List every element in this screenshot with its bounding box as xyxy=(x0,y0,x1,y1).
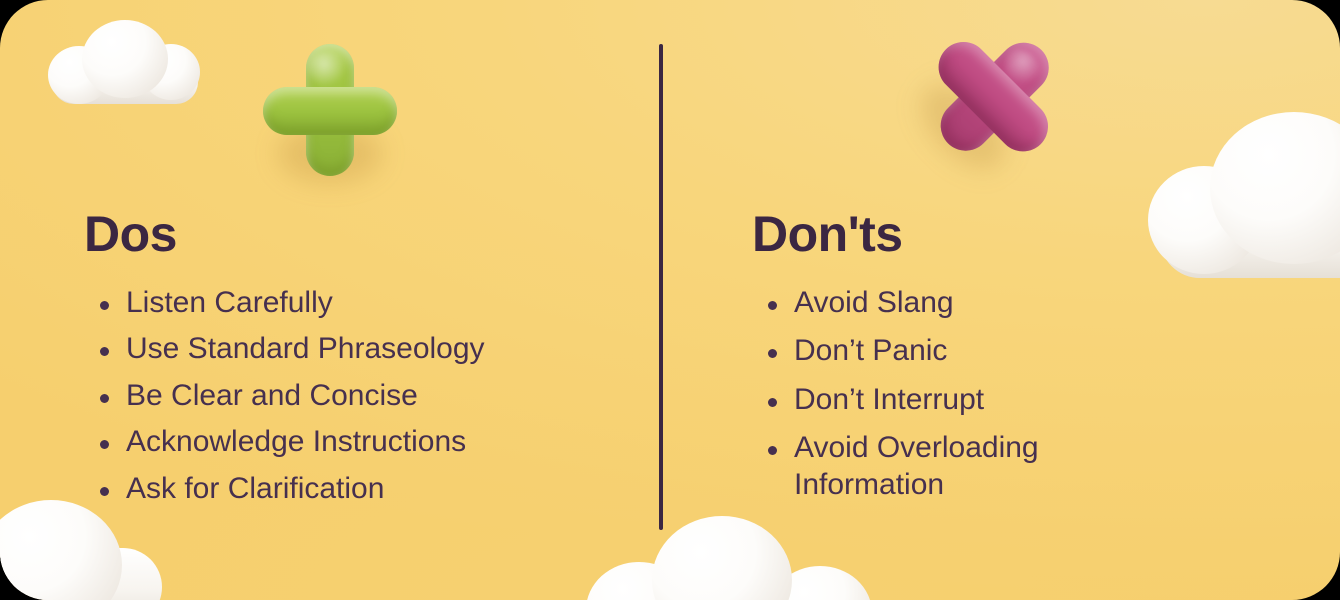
cloud-icon-bottom-center xyxy=(586,516,872,600)
list-item-label: Don’t Interrupt xyxy=(794,383,984,416)
donts-column: Don'ts Avoid Slang Don’t Panic Don’t Int… xyxy=(752,208,1182,515)
vertical-divider xyxy=(659,44,663,530)
bullet-icon xyxy=(100,487,109,496)
list-item: Be Clear and Concise xyxy=(84,378,644,415)
plus-icon xyxy=(262,42,398,178)
list-item: Avoid Overloading Information xyxy=(752,430,1182,503)
bullet-icon xyxy=(768,398,777,407)
bullet-icon xyxy=(100,301,109,310)
cloud-lobe xyxy=(652,516,792,600)
cloud-icon-top-left xyxy=(48,20,200,104)
donts-list: Avoid Slang Don’t Panic Don’t Interrupt … xyxy=(752,285,1182,504)
bullet-icon xyxy=(100,440,109,449)
list-item-label: Acknowledge Instructions xyxy=(126,425,466,458)
dos-list: Listen Carefully Use Standard Phraseolog… xyxy=(84,285,644,508)
bullet-icon xyxy=(100,394,109,403)
list-item: Avoid Slang xyxy=(752,285,1182,322)
plus-icon-horizontal-arm xyxy=(263,87,397,135)
dos-column: Dos Listen Carefully Use Standard Phrase… xyxy=(84,208,644,517)
cloud-lobe xyxy=(82,20,168,98)
list-item-label: Be Clear and Concise xyxy=(126,379,418,412)
donts-title: Don'ts xyxy=(752,208,1182,261)
list-item-label: Avoid Slang xyxy=(794,286,954,319)
list-item-label: Don’t Panic xyxy=(794,334,947,367)
bullet-icon xyxy=(768,301,777,310)
list-item: Don’t Panic xyxy=(752,333,1182,370)
list-item: Listen Carefully xyxy=(84,285,644,322)
list-item-label: Ask for Clarification xyxy=(126,472,384,505)
cross-x-icon xyxy=(898,0,1090,192)
dos-title: Dos xyxy=(84,208,644,261)
list-item-label: Listen Carefully xyxy=(126,286,333,319)
dos-and-donts-card: Dos Listen Carefully Use Standard Phrase… xyxy=(0,0,1340,600)
list-item: Acknowledge Instructions xyxy=(84,424,644,461)
list-item-label: Use Standard Phraseology xyxy=(126,332,485,365)
list-item: Use Standard Phraseology xyxy=(84,331,644,368)
bullet-icon xyxy=(768,446,777,455)
list-item-label: Avoid Overloading Information xyxy=(794,431,1039,501)
bullet-icon xyxy=(768,349,777,358)
bullet-icon xyxy=(100,347,109,356)
list-item: Don’t Interrupt xyxy=(752,382,1182,419)
list-item: Ask for Clarification xyxy=(84,471,644,508)
